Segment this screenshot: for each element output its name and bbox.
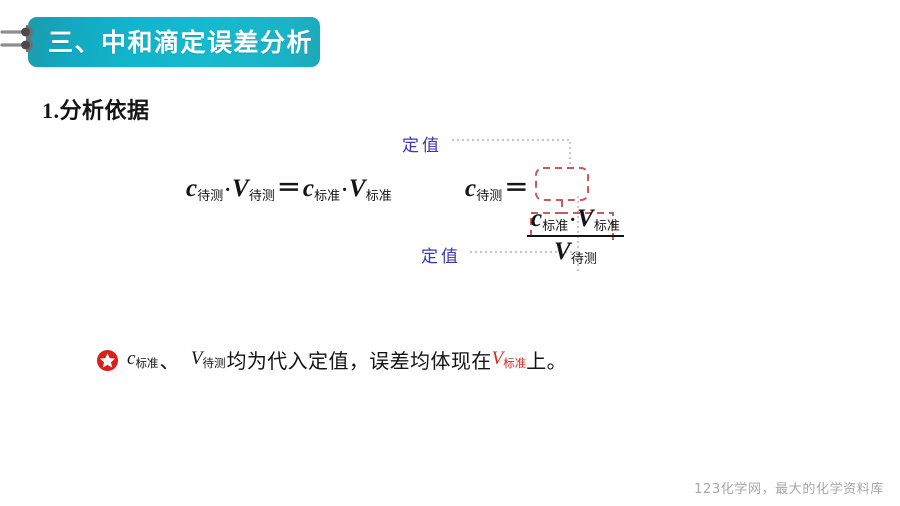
annotation-label-fixed-value-bottom: 定值 bbox=[421, 242, 461, 267]
eq-right-c-sub: 待测 bbox=[476, 189, 502, 204]
equation-right-lhs: c待测＝ bbox=[465, 168, 530, 204]
annotation-label-fixed-value-top: 定值 bbox=[402, 131, 442, 156]
eq-left-c1-var: c bbox=[186, 175, 197, 202]
note-v-measured: V待测 bbox=[190, 348, 227, 371]
slide-canvas: 三、中和滴定误差分析 1.分析依据 bbox=[0, 0, 900, 506]
summary-note: c标准、V待测均为代入定值，误差均体现在V标准上。 bbox=[96, 345, 567, 374]
eq-left-v1-sub: 待测 bbox=[249, 189, 275, 204]
eq-left-v2-var: V bbox=[349, 175, 366, 202]
note-text-part2: 上。 bbox=[526, 345, 567, 374]
num-v-var: V bbox=[577, 205, 594, 232]
eq-left-c2-sub: 标准 bbox=[314, 189, 340, 204]
num-dot: · bbox=[568, 209, 577, 231]
eq-left-v2-sub: 标准 bbox=[366, 189, 392, 204]
callout-box bbox=[536, 168, 588, 200]
note-highlight-v-standard: V标准 bbox=[492, 348, 527, 371]
eq-right-c-var: c bbox=[465, 175, 476, 202]
formula-region: 定值 定值 c待测·V待测＝c标准·V标准 c待测＝ c标准·V标准 V待测 bbox=[0, 0, 900, 506]
note-v-var: V bbox=[191, 348, 203, 369]
red-star-badge-icon bbox=[96, 349, 119, 372]
eq-right-equals: ＝ bbox=[502, 176, 530, 202]
leader-line-top bbox=[452, 140, 570, 171]
den-v-sub: 待测 bbox=[571, 252, 597, 267]
fraction-numerator: c标准·V标准 bbox=[527, 206, 624, 235]
eq-left-dot2: · bbox=[340, 179, 349, 201]
note-c-sub: 标准 bbox=[135, 356, 158, 370]
num-c-sub: 标准 bbox=[542, 219, 568, 234]
equation-right-fraction: c标准·V标准 V待测 bbox=[527, 206, 624, 266]
eq-left-dot1: · bbox=[223, 179, 232, 201]
den-v-var: V bbox=[554, 238, 571, 265]
note-v-sub: 待测 bbox=[202, 356, 225, 370]
note-highlight-sub: 标准 bbox=[503, 356, 526, 370]
footer-watermark: 123化学网，最大的化学资料库 bbox=[694, 478, 884, 497]
eq-left-v1-var: V bbox=[232, 175, 249, 202]
note-c-standard: c标准 bbox=[126, 348, 159, 371]
note-text-part1: 均为代入定值，误差均体现在 bbox=[226, 345, 491, 374]
eq-left-c1-sub: 待测 bbox=[197, 189, 223, 204]
note-separator: 、 bbox=[159, 345, 179, 374]
note-highlight-var: V bbox=[492, 348, 504, 369]
fraction-denominator: V待测 bbox=[527, 237, 624, 267]
eq-left-equals: ＝ bbox=[275, 176, 303, 202]
num-v-sub: 标准 bbox=[594, 219, 620, 234]
equation-left: c待测·V待测＝c标准·V标准 bbox=[186, 168, 392, 204]
eq-left-c2-var: c bbox=[303, 175, 314, 202]
num-c-var: c bbox=[531, 205, 542, 232]
